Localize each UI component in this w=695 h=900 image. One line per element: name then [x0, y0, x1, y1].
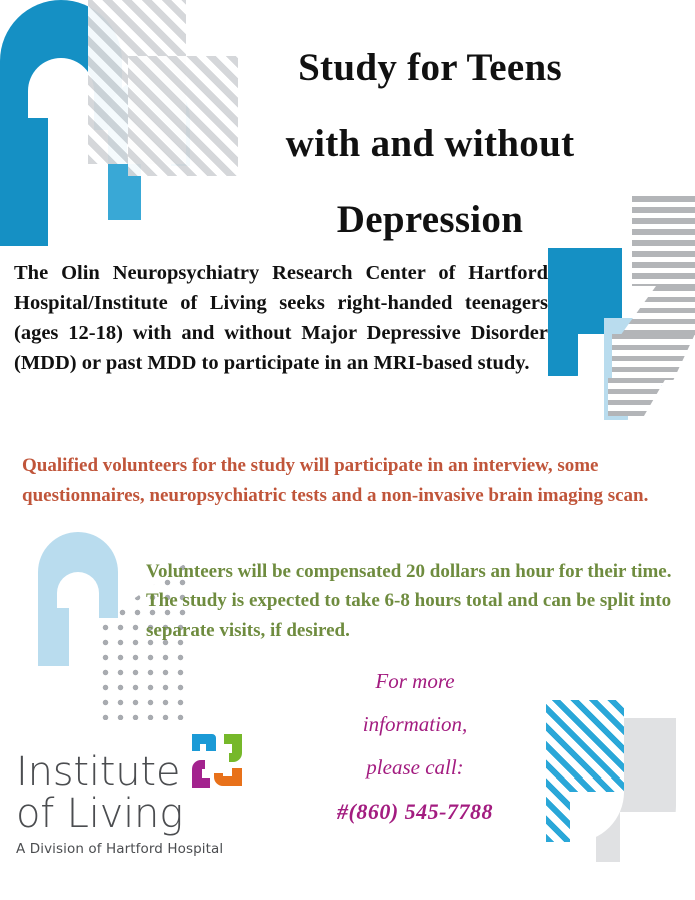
page-title: Study for Teens with and without Depress… [195, 30, 665, 258]
intro-paragraph: The Olin Neuropsychiatry Research Center… [14, 258, 548, 379]
opening-quote-mark-blue-lobe-large [0, 0, 122, 130]
horizontal-stripes-gray-block-3 [612, 334, 695, 380]
contact-line-1: For more [300, 660, 530, 703]
horizontal-stripes-gray-block-2 [620, 286, 695, 336]
page-title-line-1: Study for Teens [195, 30, 665, 106]
closing-quote-mark-blue-tail [548, 320, 622, 376]
contact-phone-number[interactable]: #(860) 545-7788 [300, 789, 530, 834]
closing-quote-mark-pale-tail [604, 374, 662, 420]
closing-quote-mark-blue-head [548, 248, 622, 328]
logo-wordmark-line-2: of Living [16, 794, 276, 836]
participation-paragraph: Qualified volunteers for the study will … [22, 451, 670, 511]
logo-tagline: A Division of Hartford Hospital [16, 841, 276, 857]
flyer-page: Study for Teens with and without Depress… [0, 0, 695, 900]
contact-line-3: please call: [300, 746, 530, 789]
opening-quote-mark-pale-stem [38, 608, 69, 666]
opening-quote-mark-blue-stem-large [0, 118, 48, 246]
closing-quote-mark-pale-head [604, 318, 662, 380]
opening-quote-mark-pale-lobe [38, 532, 118, 618]
institute-of-living-logo: Institute of Living A Division of Hartfo… [16, 752, 276, 857]
closing-quote-mark-gray-head [596, 718, 676, 802]
closing-quote-mark-gray-cutout [620, 812, 676, 862]
closing-quote-mark-pale-cutout [628, 386, 662, 420]
diagonal-hatch-gray-block-a [88, 0, 186, 164]
horizontal-stripes-gray-block-4 [608, 378, 666, 416]
compensation-paragraph: Volunteers will be compensated 20 dollar… [146, 557, 686, 645]
closing-quote-mark-blue-cutout [578, 334, 622, 376]
page-title-line-3: Depression [195, 182, 665, 258]
closing-quote-mark-striped-cyan-cutout [570, 792, 624, 842]
closing-quote-mark-striped-cyan-tail [546, 778, 624, 842]
page-title-line-2: with and without [195, 106, 665, 182]
pinwheel-quotes-icon [186, 730, 248, 792]
opening-quote-mark-blue-stem-small [108, 158, 141, 220]
opening-quote-mark-blue-lobe-small [108, 78, 190, 166]
contact-line-2: information, [300, 703, 530, 746]
contact-block: For more information, please call: #(860… [300, 660, 530, 834]
closing-quote-mark-striped-cyan-head [546, 700, 624, 786]
closing-quote-mark-gray-tail [596, 796, 676, 862]
